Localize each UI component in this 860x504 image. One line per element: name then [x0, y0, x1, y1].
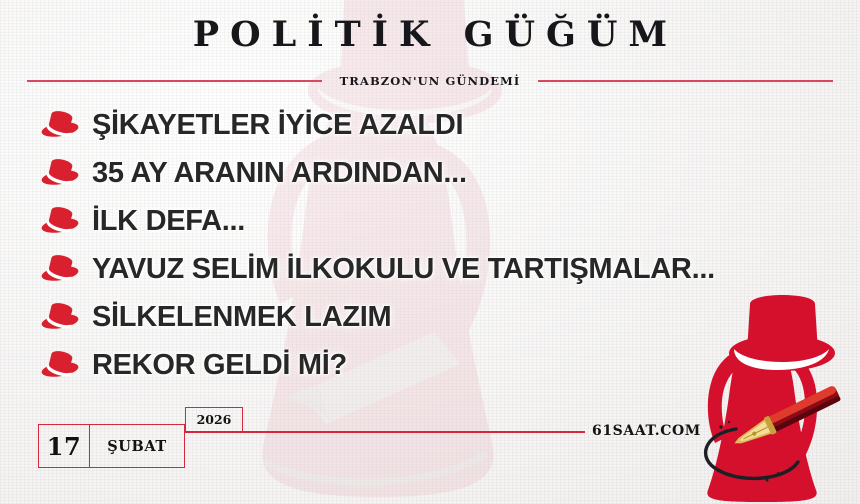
footer-divider: [185, 431, 585, 433]
red-top-hat-icon: [40, 110, 82, 140]
headline-text: REKOR GELDİ Mİ?: [92, 349, 347, 382]
headline-text: ŞİKAYETLER İYİCE AZALDI: [92, 109, 463, 142]
headline-item[interactable]: İLK DEFA...: [40, 197, 830, 245]
divider-right: [538, 80, 833, 82]
red-top-hat-icon: [40, 158, 82, 188]
date-month: ŞUBAT: [90, 424, 185, 468]
red-top-hat-icon: [40, 206, 82, 236]
headline-text: İLK DEFA...: [92, 205, 245, 238]
divider-left: [27, 80, 322, 82]
headline-text: SİLKELENMEK LAZIM: [92, 301, 391, 334]
red-top-hat-icon: [40, 350, 82, 380]
headline-item[interactable]: YAVUZ SELİM İLKOKULU VE TARTIŞMALAR...: [40, 245, 830, 293]
headline-item[interactable]: ŞİKAYETLER İYİCE AZALDI: [40, 101, 830, 149]
subtitle-row: TRABZON'UN GÜNDEMİ: [0, 74, 860, 88]
subtitle: TRABZON'UN GÜNDEMİ: [340, 74, 521, 88]
date-badge: 17 ŞUBAT: [38, 424, 185, 468]
headline-text: YAVUZ SELİM İLKOKULU VE TARTIŞMALAR...: [92, 253, 715, 286]
masthead: POLİTİK GÜĞÜM: [0, 14, 860, 55]
page-title: POLİTİK GÜĞÜM: [0, 14, 860, 55]
teapot-with-tophat-and-pen-icon[interactable]: [674, 294, 852, 502]
red-top-hat-icon: [40, 254, 82, 284]
politik-gugum-card: POLİTİK GÜĞÜM TRABZON'UN GÜNDEMİ ŞİKAYET…: [0, 0, 860, 504]
headline-text: 35 AY ARANIN ARDINDAN...: [92, 157, 467, 190]
headline-item[interactable]: 35 AY ARANIN ARDINDAN...: [40, 149, 830, 197]
date-day: 17: [38, 424, 90, 468]
red-top-hat-icon: [40, 302, 82, 332]
date-year: 2026: [185, 407, 243, 432]
